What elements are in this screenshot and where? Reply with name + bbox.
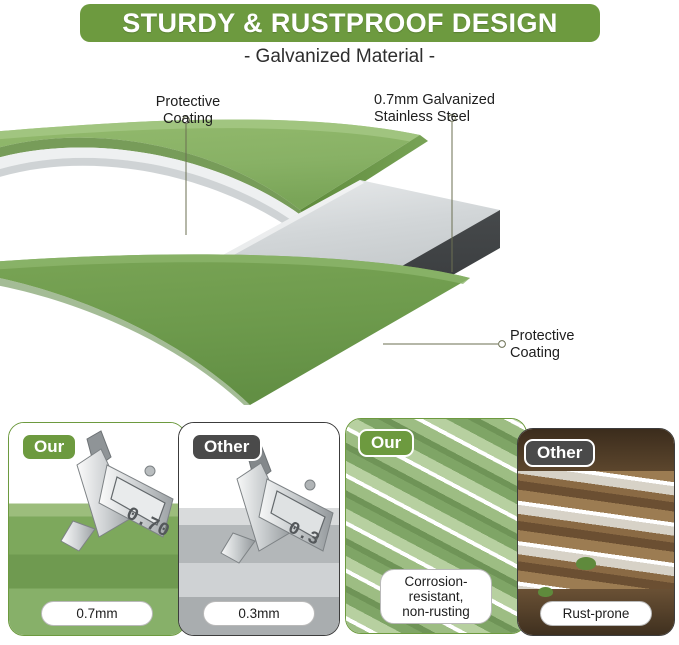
label-top-protective-coating: Protective Coating (140, 94, 236, 128)
caliper-icon: 0.3 (217, 441, 340, 587)
comparison-group-corrosion: Our Corrosion-resistant, non-rusting Oth… (345, 418, 673, 643)
sprout-icon (538, 587, 553, 597)
title-banner: STURDY & RUSTPROOF DESIGN (80, 4, 600, 42)
card-other-corrosion[interactable]: Other Rust-prone (517, 428, 675, 636)
comparison-group-thickness: 0.70 Our 0.7mm 0.3 Other 0.3mm (8, 418, 338, 643)
badge-other: Other (191, 433, 262, 461)
sprout-icon (576, 557, 596, 570)
label-bottom-protective-coating: Protective Coating (510, 328, 630, 362)
caption-our-corrosion: Corrosion-resistant, non-rusting (380, 569, 492, 624)
badge-other: Other (524, 439, 595, 467)
page-title: STURDY & RUSTPROOF DESIGN (122, 8, 558, 39)
card-our-thickness[interactable]: 0.70 Our 0.7mm (8, 422, 186, 636)
page-subtitle: - Galvanized Material - (0, 46, 679, 68)
caption-other-thickness: 0.3mm (203, 601, 315, 626)
card-our-corrosion[interactable]: Our Corrosion-resistant, non-rusting (345, 418, 527, 634)
bottom-coating-layer (0, 254, 470, 405)
card-other-thickness[interactable]: 0.3 Other 0.3mm (178, 422, 340, 636)
header: STURDY & RUSTPROOF DESIGN - Galvanized M… (0, 0, 679, 80)
layer-diagram: Protective Coating 0.7mm Galvanized Stai… (0, 80, 679, 405)
caption-other-corrosion: Rust-prone (540, 601, 652, 626)
badge-our: Our (21, 433, 77, 461)
label-galvanized-steel: 0.7mm Galvanized Stainless Steel (374, 92, 544, 126)
badge-our: Our (358, 429, 414, 457)
caption-our-thickness: 0.7mm (41, 601, 153, 626)
